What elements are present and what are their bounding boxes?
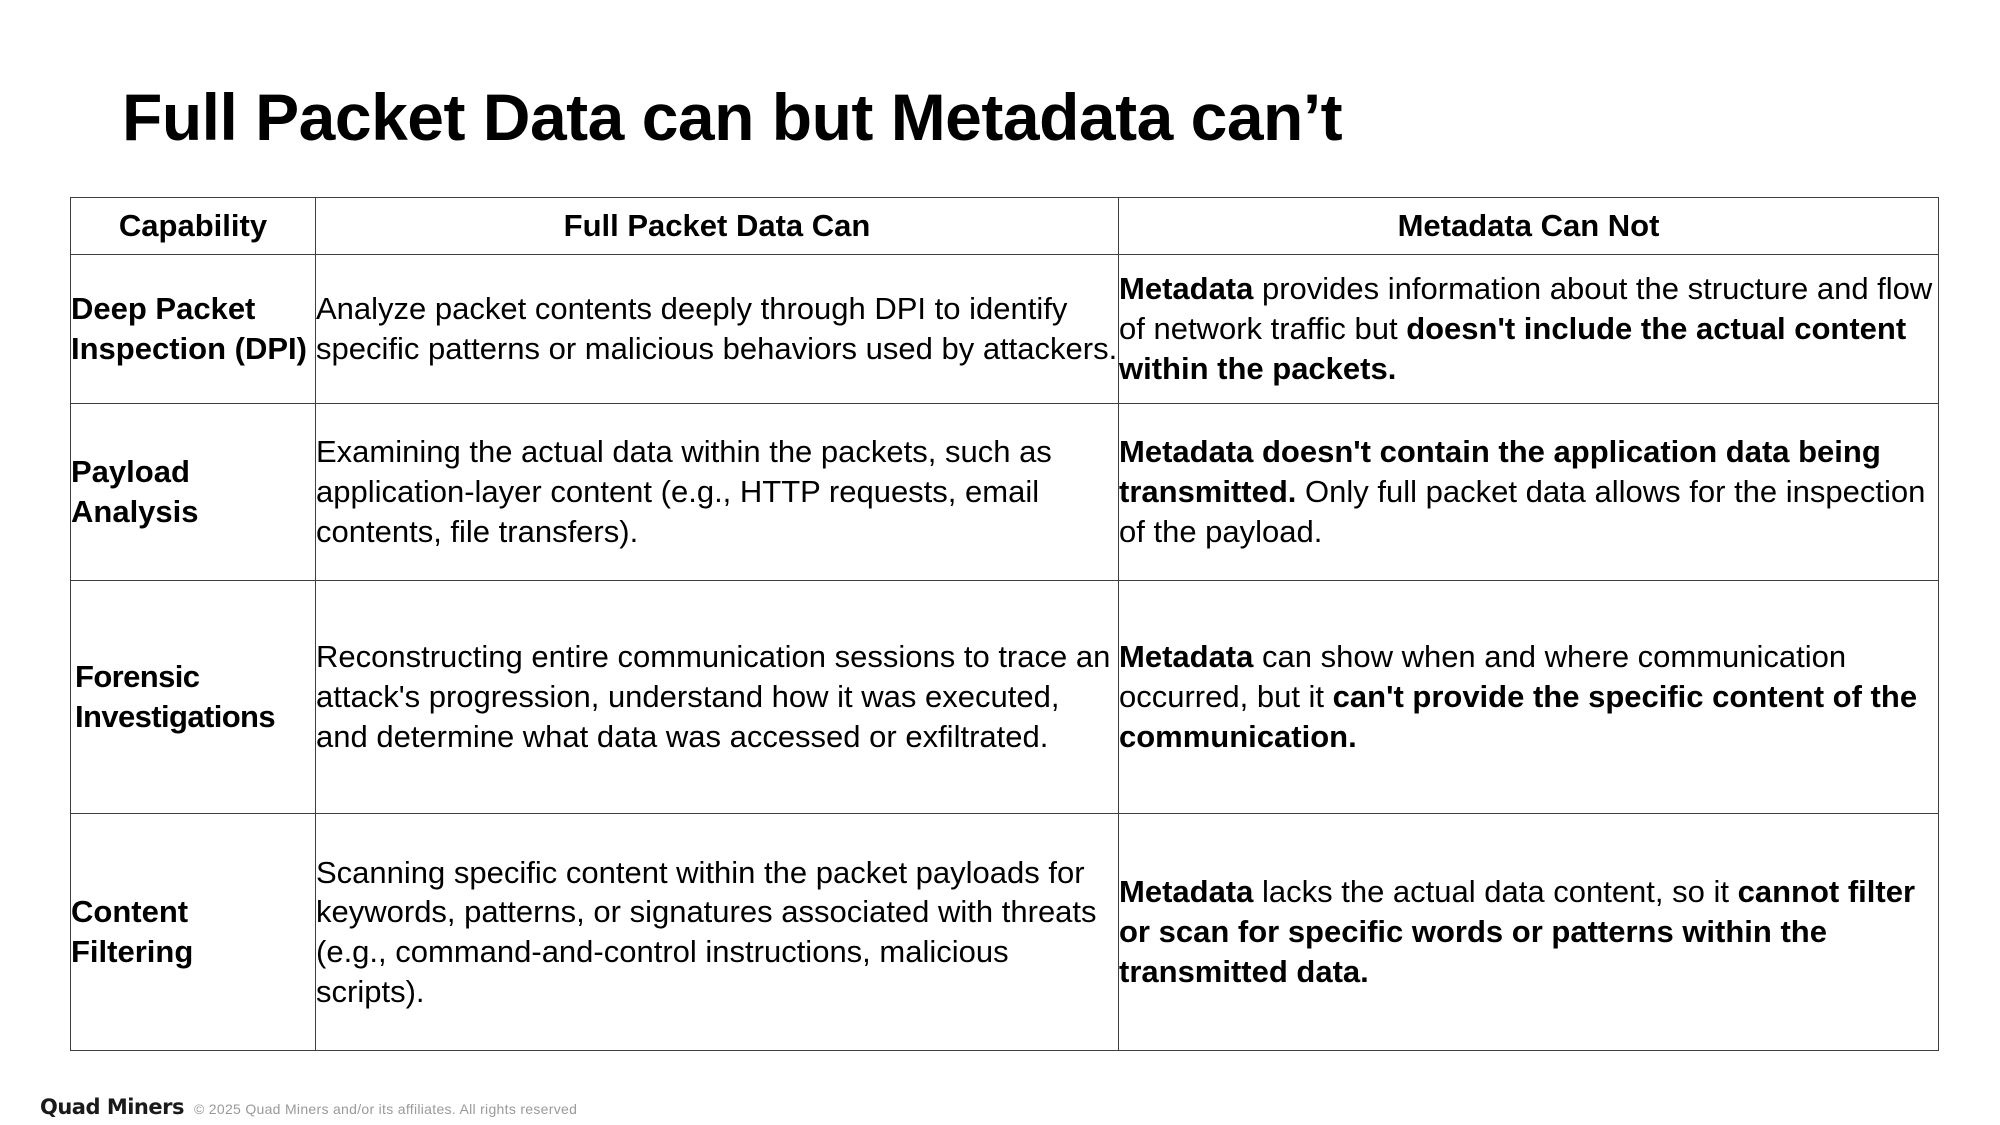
capability-label: Deep Packet Inspection (DPI) <box>71 255 316 404</box>
brand-text-part1: Quad M <box>40 1095 127 1119</box>
brand-stylized-i: i <box>127 1095 134 1119</box>
metadata-lead-emphasis: Metadata <box>1119 639 1253 674</box>
copyright-notice: © 2025 Quad Miners and/or its affiliates… <box>194 1101 577 1117</box>
slide-footer: Quad Miners © 2025 Quad Miners and/or it… <box>40 1095 577 1119</box>
metadata-regular-text: lacks the actual data content, so it <box>1253 874 1737 909</box>
metadata-limitation-description: Metadata can show when and where communi… <box>1119 581 1939 814</box>
column-header-full-packet-data-can: Full Packet Data Can <box>316 198 1119 255</box>
metadata-limitation-description: Metadata doesn't contain the application… <box>1119 404 1939 581</box>
table-row: Forensic Investigations Reconstructing e… <box>71 581 1939 814</box>
metadata-limitation-description: Metadata lacks the actual data content, … <box>1119 814 1939 1051</box>
full-packet-data-description: Reconstructing entire communication sess… <box>316 581 1119 814</box>
table-row: Content Filtering Scanning specific cont… <box>71 814 1939 1051</box>
capability-label: Payload Analysis <box>71 404 316 581</box>
brand-text-part2: ners <box>134 1095 184 1119</box>
full-packet-data-description: Scanning specific content within the pac… <box>316 814 1119 1051</box>
page-title: Full Packet Data can but Metadata can’t <box>122 84 1342 150</box>
metadata-lead-emphasis: Metadata <box>1119 874 1253 909</box>
column-header-capability: Capability <box>71 198 316 255</box>
full-packet-data-description: Examining the actual data within the pac… <box>316 404 1119 581</box>
capability-label: Forensic Investigations <box>71 581 316 814</box>
table-header-row: Capability Full Packet Data Can Metadata… <box>71 198 1939 255</box>
capability-label: Content Filtering <box>71 814 316 1051</box>
full-packet-data-description: Analyze packet contents deeply through D… <box>316 255 1119 404</box>
column-header-metadata-can-not: Metadata Can Not <box>1119 198 1939 255</box>
metadata-lead-emphasis: Metadata <box>1119 271 1253 306</box>
table-row: Payload Analysis Examining the actual da… <box>71 404 1939 581</box>
capability-comparison-table: Capability Full Packet Data Can Metadata… <box>70 197 1939 1051</box>
quad-miners-logo: Quad Miners <box>40 1095 184 1119</box>
table-row: Deep Packet Inspection (DPI) Analyze pac… <box>71 255 1939 404</box>
metadata-limitation-description: Metadata provides information about the … <box>1119 255 1939 404</box>
